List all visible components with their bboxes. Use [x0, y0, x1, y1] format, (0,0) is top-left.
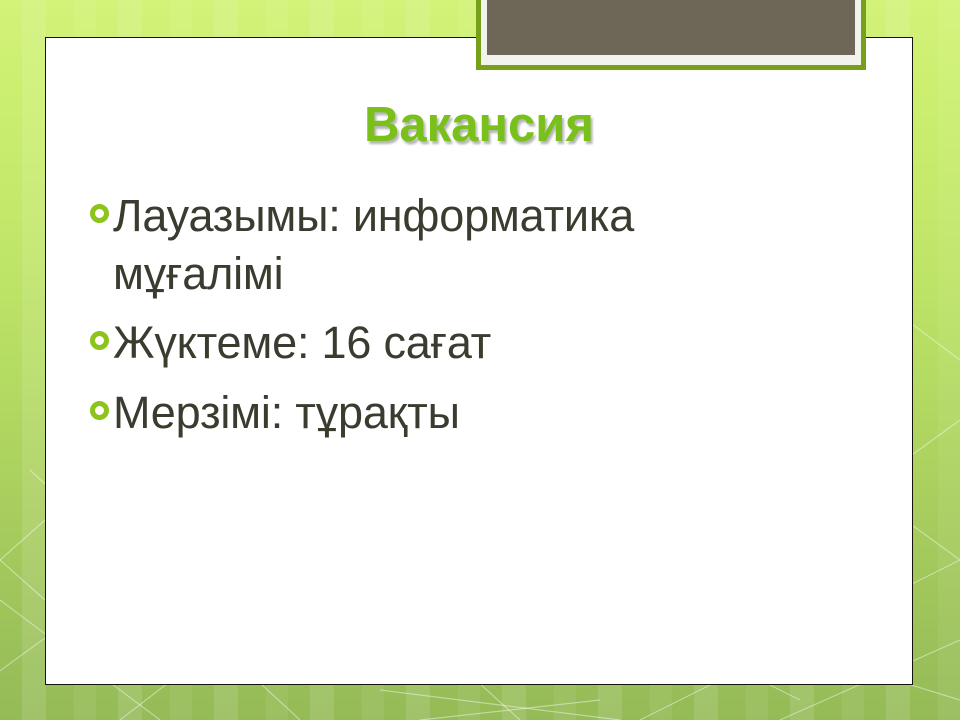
ring-bullet-icon — [90, 204, 109, 223]
list-item-label: Жүктеме: 16 сағат — [113, 314, 880, 372]
bullet-list: Лауазымы: информатика мұғалімі Жүктеме: … — [90, 187, 880, 453]
slide-title: Вакансия — [45, 97, 913, 153]
list-item: Лауазымы: информатика мұғалімі — [90, 187, 880, 302]
ring-bullet-icon — [90, 401, 109, 420]
list-item: Жүктеме: 16 сағат — [90, 314, 880, 372]
ring-bullet-icon — [90, 331, 109, 350]
list-item: Мерзімі: тұрақты — [90, 384, 880, 442]
slide-body: Вакансия Лауазымы: информатика мұғалімі … — [45, 37, 913, 685]
list-item-label: Лауазымы: информатика мұғалімі — [113, 187, 813, 302]
list-item-label: Мерзімі: тұрақты — [113, 384, 880, 442]
presentation-slide: Вакансия Лауазымы: информатика мұғалімі … — [0, 0, 960, 720]
